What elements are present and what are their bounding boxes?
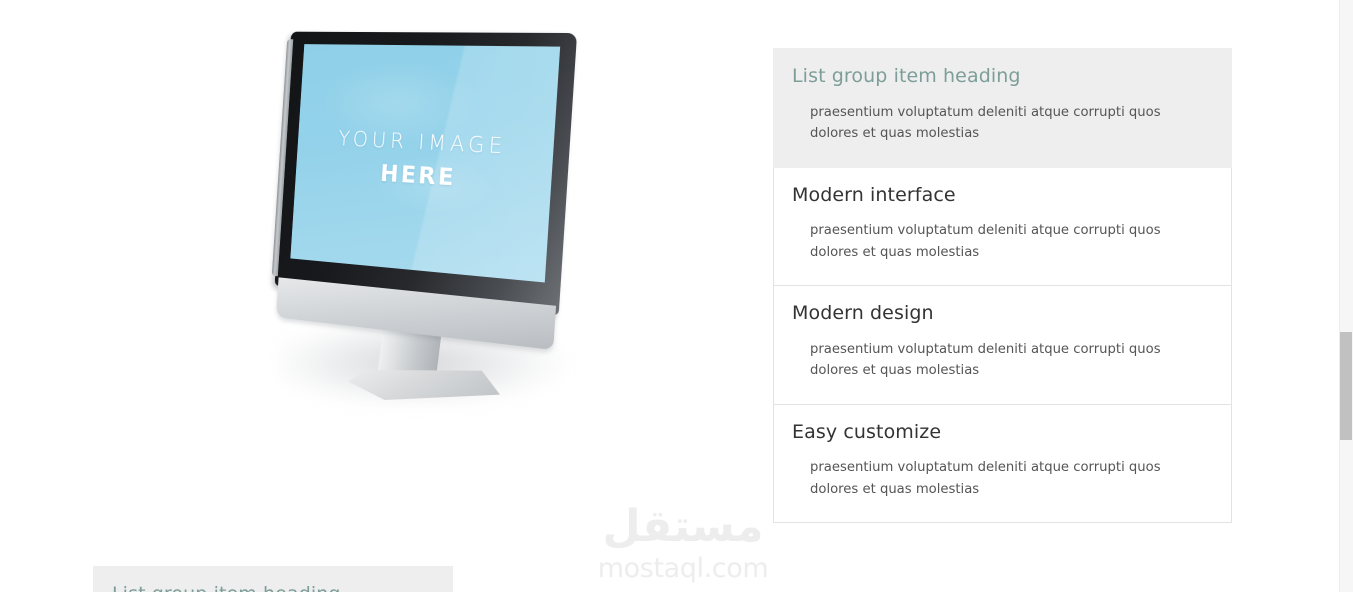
monitor-screen: YOUR IMAGE HERE (290, 44, 560, 282)
watermark-arabic-text: مستقل (588, 505, 778, 549)
vertical-scrollbar-track[interactable] (1339, 0, 1353, 592)
list-item-heading: Modern design (792, 302, 1211, 325)
list-item[interactable]: List group item heading praesentium volu… (93, 566, 453, 592)
vertical-scrollbar-thumb[interactable] (1340, 332, 1352, 440)
list-item-text: praesentium voluptatum deleniti atque co… (810, 339, 1200, 382)
list-item[interactable]: List group item heading praesentium volu… (773, 48, 1232, 168)
list-group-right: List group item heading praesentium volu… (773, 48, 1232, 523)
list-item-heading: Easy customize (792, 421, 1211, 444)
list-item[interactable]: Modern design praesentium voluptatum del… (773, 286, 1232, 405)
mostaql-watermark: مستقل mostaql.com (588, 505, 778, 582)
page-root: YOUR IMAGE HERE List group item heading … (0, 0, 1353, 592)
list-item-heading: List group item heading (792, 65, 1211, 88)
list-item[interactable]: Easy customize praesentium voluptatum de… (773, 405, 1232, 524)
list-item-text: praesentium voluptatum deleniti atque co… (810, 102, 1200, 145)
list-group-bottom-left: List group item heading praesentium volu… (93, 566, 453, 592)
screen-caption: YOUR IMAGE HERE (295, 123, 554, 201)
list-item-text: praesentium voluptatum deleniti atque co… (810, 457, 1200, 500)
screen-caption-line-2: HERE (295, 155, 552, 201)
monitor-screen-assembly: YOUR IMAGE HERE (275, 32, 577, 316)
list-item-heading: Modern interface (792, 184, 1211, 207)
list-item-heading: List group item heading (112, 583, 432, 592)
monitor-mockup-image: YOUR IMAGE HERE (230, 18, 630, 418)
list-item[interactable]: Modern interface praesentium voluptatum … (773, 168, 1232, 287)
list-item-text: praesentium voluptatum deleniti atque co… (810, 220, 1200, 263)
watermark-domain-text: mostaql.com (588, 555, 778, 582)
